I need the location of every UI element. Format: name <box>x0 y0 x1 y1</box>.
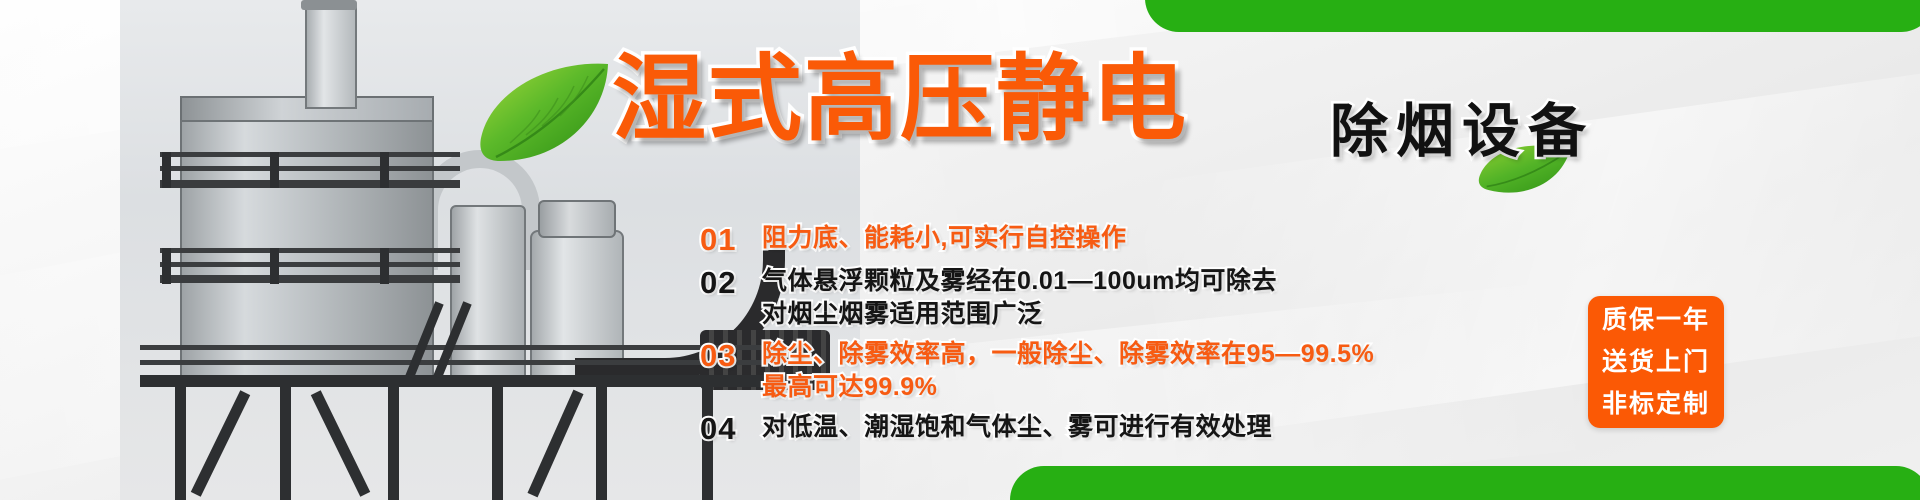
photo-support-leg <box>175 387 186 500</box>
photo-platform-deck <box>140 375 780 387</box>
photo-railing <box>160 248 460 253</box>
photo-support-leg <box>388 387 399 500</box>
photo-stair-post <box>162 248 171 284</box>
photo-scrubber-a <box>450 205 526 384</box>
photo-support-leg <box>596 387 607 500</box>
feature-list: 01 阻力底、能耗小,可实行自控操作 02 气体悬浮颗粒及雾经在0.01—100… <box>700 222 1580 454</box>
photo-support-leg <box>492 387 503 500</box>
page-title: 湿式高压静电 <box>612 52 1188 146</box>
green-ribbon-top <box>1145 0 1920 32</box>
feature-text: 阻力底、能耗小,可实行自控操作 <box>762 222 1126 255</box>
feature-number: 03 <box>700 338 762 374</box>
feature-text: 气体悬浮颗粒及雾经在0.01—100um均可除去 对烟尘烟雾适用范围广泛 <box>762 265 1277 331</box>
photo-scrubber-b-top <box>538 200 616 238</box>
leaf-icon <box>476 60 616 165</box>
photo-catwalk-lower <box>160 275 460 283</box>
photo-stair-post <box>270 248 279 284</box>
photo-stair-post <box>380 248 389 284</box>
photo-support-leg <box>280 387 291 500</box>
feature-line-1: 气体悬浮颗粒及雾经在0.01—100um均可除去 <box>762 267 1277 295</box>
list-item: 01 阻力底、能耗小,可实行自控操作 <box>700 222 1580 258</box>
photo-catwalk-upper <box>160 180 460 188</box>
list-item: 03 除尘、除雾效率高，一般除尘、除雾效率在95—99.5% 最高可达99.9% <box>700 338 1580 404</box>
guarantee-badge: 质保一年 送货上门 非标定制 <box>1588 296 1724 428</box>
feature-line-2: 对烟尘烟雾适用范围广泛 <box>762 298 1277 331</box>
photo-railing <box>160 152 460 157</box>
page-subtitle: 除烟设备 <box>1330 103 1594 161</box>
photo-stair-post <box>162 152 171 188</box>
feature-text: 除尘、除雾效率高，一般除尘、除雾效率在95—99.5% 最高可达99.9% <box>762 338 1374 404</box>
photo-chimney-cap <box>301 0 357 10</box>
photo-railing <box>160 166 460 171</box>
badge-line-2: 送货上门 <box>1602 341 1710 383</box>
feature-line-1: 对低温、潮湿饱和气体尘、雾可进行有效处理 <box>762 413 1272 441</box>
feature-line-1: 除尘、除雾效率高，一般除尘、除雾效率在95—99.5% <box>762 340 1374 368</box>
promo-banner: 湿式高压静电 除烟设备 01 阻力底、能耗小,可实行自控操作 02 气体悬浮颗粒… <box>0 0 1920 500</box>
photo-railing <box>140 360 780 365</box>
feature-number: 01 <box>700 222 762 258</box>
feature-number: 02 <box>700 265 762 301</box>
badge-line-1: 质保一年 <box>1602 299 1710 341</box>
list-item: 02 气体悬浮颗粒及雾经在0.01—100um均可除去 对烟尘烟雾适用范围广泛 <box>700 265 1580 331</box>
feature-text: 对低温、潮湿饱和气体尘、雾可进行有效处理 <box>762 411 1272 444</box>
photo-railing <box>160 262 460 267</box>
badge-line-3: 非标定制 <box>1602 383 1710 425</box>
green-ribbon-bottom <box>1010 466 1920 500</box>
photo-railing <box>140 345 780 350</box>
feature-line-2: 最高可达99.9% <box>762 371 1374 404</box>
photo-stair-post <box>270 152 279 188</box>
feature-line-1: 阻力底、能耗小,可实行自控操作 <box>762 224 1126 252</box>
photo-chimney <box>305 5 357 109</box>
list-item: 04 对低温、潮湿饱和气体尘、雾可进行有效处理 <box>700 411 1580 447</box>
photo-stair-post <box>380 152 389 188</box>
feature-number: 04 <box>700 411 762 447</box>
